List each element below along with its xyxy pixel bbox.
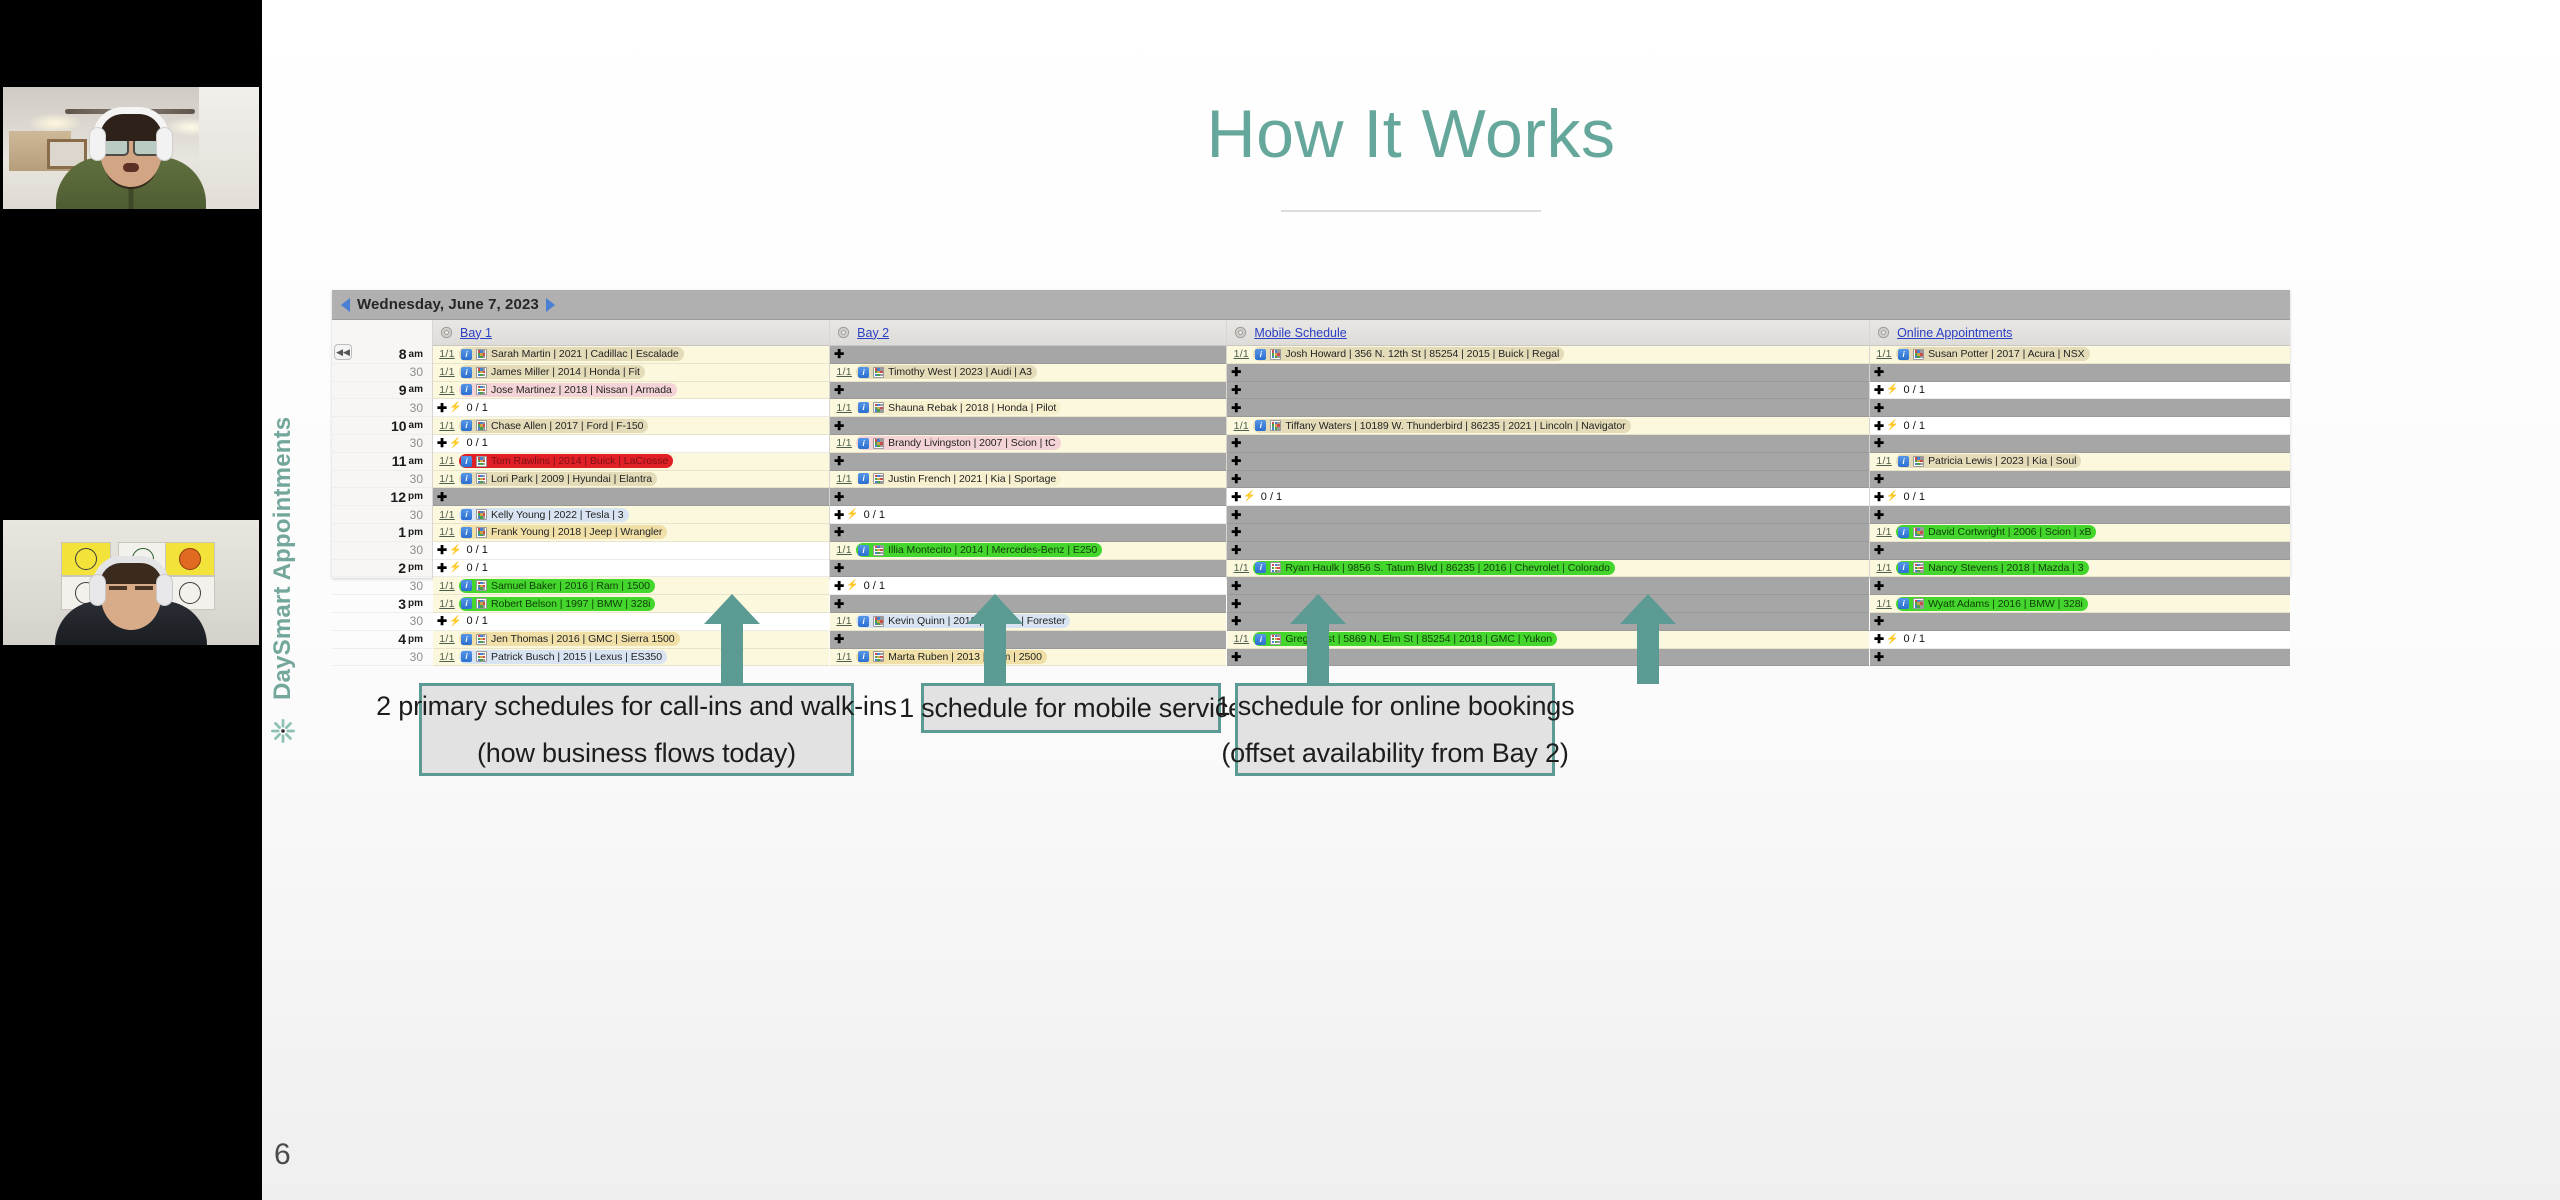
appointment-block[interactable]: iJames Miller | 2014 | Honda | Fit [459, 365, 645, 379]
schedule-slot[interactable]: ✚ [1227, 542, 1869, 560]
add-appointment-icon[interactable]: ✚ [1229, 365, 1243, 379]
grid-icon[interactable] [476, 527, 487, 538]
slot-capacity-link[interactable]: 1/1 [1229, 420, 1253, 432]
info-icon[interactable]: i [461, 598, 472, 609]
gear-icon[interactable] [1234, 326, 1247, 339]
slot-capacity-link[interactable]: 1/1 [832, 437, 856, 449]
appointment-block[interactable]: iRobert Belson | 1997 | BMW | 328i [459, 597, 655, 611]
video-conference-rail [0, 0, 262, 1200]
quick-book-icon[interactable]: ⚡ [846, 509, 858, 520]
info-icon[interactable]: i [461, 456, 472, 467]
schedule-slot[interactable]: 1/1iMarta Ruben | 2013 | Ram | 2500 [830, 649, 1226, 667]
scheduler-screenshot: Wednesday, June 7, 2023 ◀◀ 8am309am3010a… [332, 290, 2290, 578]
schedule-slot[interactable]: 1/1iSamuel Baker | 2016 | Ram | 1500 [433, 577, 829, 595]
grid-icon[interactable] [1913, 598, 1924, 609]
schedule-slot[interactable]: 1/1iKevin Quinn | 2018 | Subaru | Forest… [830, 613, 1226, 631]
info-icon[interactable]: i [858, 616, 869, 627]
schedule-slot[interactable]: ✚⚡0 / 1 [1227, 488, 1869, 506]
slot-capacity-link[interactable]: 1/1 [832, 473, 856, 485]
schedule-slot[interactable]: ✚ [1227, 364, 1869, 382]
add-appointment-icon[interactable]: ✚ [1872, 436, 1886, 450]
schedule-slot[interactable]: 1/1iDavid Cortwright | 2006 | Scion | xB [1870, 524, 2290, 542]
grid-icon[interactable] [476, 384, 487, 395]
info-icon[interactable]: i [1898, 456, 1909, 467]
time-label: 9am [332, 382, 432, 400]
grid-icon[interactable] [1270, 349, 1281, 360]
schedule-slot[interactable]: 1/1iJustin French | 2021 | Kia | Sportag… [830, 471, 1226, 489]
page-title: How It Works [262, 95, 2560, 173]
schedule-slot[interactable]: 1/1iIllia Montecito | 2014 | Mercedes-Be… [830, 542, 1226, 560]
info-icon[interactable]: i [858, 473, 869, 484]
add-appointment-icon[interactable]: ✚ [1229, 597, 1243, 611]
quick-book-icon[interactable]: ⚡ [449, 402, 461, 413]
schedule-column-bay-2: Bay 2✚1/1iTimothy West | 2023 | Audi | A… [829, 320, 1226, 578]
info-icon[interactable]: i [858, 545, 869, 556]
info-icon[interactable]: i [461, 367, 472, 378]
add-appointment-icon[interactable]: ✚ [1229, 454, 1243, 468]
info-icon[interactable]: i [1255, 349, 1266, 360]
appointment-block[interactable]: iKelly Young | 2022 | Tesla | 3 [459, 508, 629, 522]
column-title-link[interactable]: Bay 2 [857, 326, 889, 340]
slot-capacity-link[interactable]: 1/1 [832, 402, 856, 414]
appointment-block[interactable]: iPatrick Busch | 2015 | Lexus | ES350 [459, 650, 667, 664]
wall-right [199, 87, 259, 209]
appointment-label: Frank Young | 2018 | Jeep | Wrangler [491, 526, 662, 538]
schedule-slot[interactable]: ✚⚡0 / 1 [433, 613, 829, 631]
appointment-block[interactable]: iJose Martinez | 2018 | Nissan | Armada [459, 383, 677, 397]
grid-icon[interactable] [1270, 634, 1281, 645]
brand-name: DaySmart Appointments [269, 417, 297, 700]
schedule-slot[interactable]: ✚ [1870, 613, 2290, 631]
add-appointment-icon[interactable]: ✚ [1229, 525, 1243, 539]
quick-book-icon[interactable]: ⚡ [1886, 384, 1898, 395]
add-appointment-icon[interactable]: ✚ [435, 490, 449, 504]
schedule-slot[interactable]: 1/1iChase Allen | 2017 | Ford | F-150 [433, 417, 829, 435]
info-icon[interactable]: i [1898, 349, 1909, 360]
schedule-slot[interactable]: ✚ [830, 453, 1226, 471]
column-header-bay-1: Bay 1 [433, 320, 829, 346]
time-label: 10am [332, 417, 432, 435]
participant-2-video [3, 520, 259, 645]
add-appointment-icon[interactable]: ✚ [1229, 401, 1243, 415]
appointment-label: Josh Howard | 356 N. 12th St | 85254 | 2… [1285, 348, 1559, 360]
video-tile-participant-1[interactable] [3, 87, 259, 209]
appointment-block[interactable]: iLori Park | 2009 | Hyundai | Elantra [459, 472, 657, 486]
appointment-block[interactable]: iJen Thomas | 2016 | GMC | Sierra 1500 [459, 632, 680, 646]
info-icon[interactable]: i [858, 402, 869, 413]
appointment-label: Jose Martinez | 2018 | Nissan | Armada [491, 384, 672, 396]
gear-icon[interactable] [1877, 326, 1890, 339]
info-icon[interactable]: i [1255, 634, 1266, 645]
schedule-slot[interactable]: ✚ [1227, 382, 1869, 400]
add-appointment-icon[interactable]: ✚ [832, 490, 846, 504]
slot-capacity-link[interactable]: 1/1 [435, 580, 459, 592]
add-appointment-icon[interactable]: ✚ [1229, 472, 1243, 486]
schedule-slot[interactable]: ✚⚡0 / 1 [433, 542, 829, 560]
info-icon[interactable]: i [858, 651, 869, 662]
gear-icon[interactable] [837, 326, 850, 339]
add-appointment-icon[interactable]: ✚ [1872, 401, 1886, 415]
grid-icon[interactable] [476, 420, 487, 431]
appointment-block[interactable]: iTiffany Waters | 10189 W. Thunderbird |… [1253, 419, 1630, 433]
schedule-slot[interactable]: 1/1iWyatt Adams | 2016 | BMW | 328i [1870, 595, 2290, 613]
schedule-slot[interactable]: ✚ [1227, 577, 1869, 595]
schedule-slot[interactable]: ✚⚡0 / 1 [1870, 382, 2290, 400]
slot-capacity-link[interactable]: 1/1 [832, 651, 856, 663]
add-appointment-icon[interactable]: ✚ [1229, 383, 1243, 397]
grid-icon[interactable] [873, 651, 884, 662]
gear-icon[interactable] [440, 326, 453, 339]
appointment-label: Susan Potter | 2017 | Acura | NSX [1928, 348, 2085, 360]
appointment-block[interactable]: iJosh Howard | 356 N. 12th St | 85254 | … [1253, 347, 1564, 361]
info-icon[interactable]: i [858, 438, 869, 449]
add-appointment-icon[interactable]: ✚ [435, 436, 449, 450]
schedule-slot[interactable]: 1/1iJosh Howard | 356 N. 12th St | 85254… [1227, 346, 1869, 364]
add-appointment-icon[interactable]: ✚ [1872, 365, 1886, 379]
slot-capacity-link[interactable]: 1/1 [435, 473, 459, 485]
appointment-block[interactable]: iRyan Haulk | 9856 S. Tatum Blvd | 86235… [1253, 561, 1615, 575]
schedule-slot[interactable]: ✚⚡0 / 1 [1870, 488, 2290, 506]
arrow-head [967, 594, 1023, 624]
slot-capacity-link[interactable]: 1/1 [1229, 348, 1253, 360]
appointment-label: Chase Allen | 2017 | Ford | F-150 [491, 420, 643, 432]
slot-capacity-link[interactable]: 1/1 [832, 366, 856, 378]
schedule-slot[interactable]: ✚ [830, 595, 1226, 613]
info-icon[interactable]: i [461, 509, 472, 520]
add-appointment-icon[interactable]: ✚ [1229, 508, 1243, 522]
info-icon[interactable]: i [1255, 562, 1266, 573]
schedule-slot[interactable]: 1/1iSarah Martin | 2021 | Cadillac | Esc… [433, 346, 829, 364]
appointment-block[interactable]: iKevin Quinn | 2018 | Subaru | Forester [856, 614, 1070, 628]
info-icon[interactable]: i [461, 473, 472, 484]
schedule-slot[interactable]: ✚ [1870, 542, 2290, 560]
add-appointment-icon[interactable]: ✚ [1872, 632, 1886, 646]
slide-number: 6 [274, 1138, 291, 1172]
add-appointment-icon[interactable]: ✚ [832, 561, 846, 575]
slot-capacity-link[interactable]: 1/1 [435, 384, 459, 396]
schedule-slot[interactable]: ✚ [830, 560, 1226, 578]
previous-day-button[interactable] [341, 298, 350, 312]
grid-icon[interactable] [1913, 562, 1924, 573]
add-appointment-icon[interactable]: ✚ [1229, 543, 1243, 557]
slot-capacity-link[interactable]: 1/1 [1872, 598, 1896, 610]
schedule-slot[interactable]: 1/1iNancy Stevens | 2018 | Mazda | 3 [1870, 560, 2290, 578]
quick-book-icon[interactable]: ⚡ [1886, 491, 1898, 502]
column-header-online-appointments: Online Appointments [1870, 320, 2290, 346]
schedule-slot[interactable]: ✚⚡0 / 1 [830, 506, 1226, 524]
quick-book-icon[interactable]: ⚡ [449, 616, 461, 627]
appointment-block[interactable]: iBrandy Livingston | 2007 | Scion | tC [856, 436, 1060, 450]
schedule-slot[interactable]: 1/1iPatricia Lewis | 2023 | Kia | Soul [1870, 453, 2290, 471]
column-title-link[interactable]: Bay 1 [460, 326, 492, 340]
add-appointment-icon[interactable]: ✚ [832, 632, 846, 646]
add-appointment-icon[interactable]: ✚ [435, 561, 449, 575]
schedule-slot[interactable]: ✚ [1870, 364, 2290, 382]
slot-capacity-link[interactable]: 1/1 [1872, 348, 1896, 360]
golf-pennant [165, 542, 215, 576]
schedule-slot[interactable]: 1/1iPatrick Busch | 2015 | Lexus | ES350 [433, 649, 829, 667]
schedule-slot[interactable]: ✚ [1870, 435, 2290, 453]
schedule-slot[interactable]: ✚⚡0 / 1 [1870, 631, 2290, 649]
schedule-slot[interactable]: ✚⚡0 / 1 [433, 435, 829, 453]
schedule-slot[interactable]: ✚ [1227, 471, 1869, 489]
add-appointment-icon[interactable]: ✚ [435, 543, 449, 557]
schedule-slot[interactable]: ✚ [1870, 577, 2290, 595]
slot-capacity-link[interactable]: 1/1 [1872, 526, 1896, 538]
slot-capacity-link[interactable]: 1/1 [1872, 562, 1896, 574]
schedule-slot[interactable]: ✚⚡0 / 1 [433, 560, 829, 578]
appointment-label: David Cortwright | 2006 | Scion | xB [1928, 526, 2091, 538]
schedule-slot[interactable]: ✚ [830, 524, 1226, 542]
schedule-slot[interactable]: ✚ [830, 417, 1226, 435]
callout-online-bookings: 1 schedule for online bookings (offset a… [1235, 683, 1555, 776]
appointment-block[interactable]: iWyatt Adams | 2016 | BMW | 328i [1896, 597, 2088, 611]
slot-capacity-link[interactable]: 1/1 [435, 651, 459, 663]
add-appointment-icon[interactable]: ✚ [1229, 490, 1243, 504]
add-appointment-icon[interactable]: ✚ [1872, 472, 1886, 486]
schedule-slot[interactable]: ✚ [830, 488, 1226, 506]
add-appointment-icon[interactable]: ✚ [1872, 508, 1886, 522]
slot-capacity-link[interactable]: 1/1 [832, 615, 856, 627]
slot-capacity-link[interactable]: 1/1 [1229, 633, 1253, 645]
add-appointment-icon[interactable]: ✚ [1872, 383, 1886, 397]
grid-icon[interactable] [873, 616, 884, 627]
quick-book-icon[interactable]: ⚡ [449, 545, 461, 556]
grid-icon[interactable] [873, 367, 884, 378]
schedule-slot[interactable]: ✚ [1227, 453, 1869, 471]
time-label: 30 [332, 613, 432, 631]
quick-book-icon[interactable]: ⚡ [1886, 420, 1898, 431]
schedule-slot[interactable]: ✚⚡0 / 1 [830, 577, 1226, 595]
info-icon[interactable]: i [858, 367, 869, 378]
add-appointment-icon[interactable]: ✚ [1872, 614, 1886, 628]
grid-icon[interactable] [873, 473, 884, 484]
grid-icon[interactable] [1913, 456, 1924, 467]
schedule-slot[interactable]: 1/1iJose Martinez | 2018 | Nissan | Arma… [433, 382, 829, 400]
column-title-link[interactable]: Online Appointments [1897, 326, 2012, 340]
slot-capacity-link[interactable]: 1/1 [435, 348, 459, 360]
slot-capacity-link[interactable]: 1/1 [435, 455, 459, 467]
callout-line: (how business flows today) [477, 738, 796, 769]
schedule-slot[interactable]: 1/1iRyan Haulk | 9856 S. Tatum Blvd | 86… [1227, 560, 1869, 578]
slot-capacity-link[interactable]: 1/1 [435, 366, 459, 378]
add-appointment-icon[interactable]: ✚ [1229, 614, 1243, 628]
info-icon[interactable]: i [461, 420, 472, 431]
video-tile-participant-2[interactable] [3, 520, 259, 645]
grid-icon[interactable] [476, 634, 487, 645]
title-divider [1281, 210, 1541, 212]
add-appointment-icon[interactable]: ✚ [1872, 579, 1886, 593]
schedule-slot[interactable]: 1/1iTom Rawlins | 2014 | Buick | LaCross… [433, 453, 829, 471]
schedule-slot[interactable]: ✚ [1227, 399, 1869, 417]
add-appointment-icon[interactable]: ✚ [832, 597, 846, 611]
column-header-bay-2: Bay 2 [830, 320, 1226, 346]
schedule-slot[interactable]: ✚ [1227, 506, 1869, 524]
info-icon[interactable]: i [1898, 527, 1909, 538]
schedule-column-bay-1: Bay 11/1iSarah Martin | 2021 | Cadillac … [432, 320, 829, 578]
schedule-slot[interactable]: ✚ [830, 346, 1226, 364]
appointment-block[interactable]: iSamuel Baker | 2016 | Ram | 1500 [459, 579, 655, 593]
schedule-slot[interactable]: 1/1iRobert Belson | 1997 | BMW | 328i [433, 595, 829, 613]
schedule-slot[interactable]: 1/1iShauna Rebak | 2018 | Honda | Pilot [830, 399, 1226, 417]
schedule-slot[interactable]: ✚ [830, 631, 1226, 649]
time-label: 30 [332, 542, 432, 560]
appointment-block[interactable]: iFrank Young | 2018 | Jeep | Wrangler [459, 525, 667, 539]
appointment-block[interactable]: iDavid Cortwright | 2006 | Scion | xB [1896, 525, 2096, 539]
info-icon[interactable]: i [461, 349, 472, 360]
grid-icon[interactable] [873, 545, 884, 556]
add-appointment-icon[interactable]: ✚ [435, 614, 449, 628]
grid-icon[interactable] [476, 456, 487, 467]
grid-icon[interactable] [1913, 527, 1924, 538]
callout-line: 1 schedule for online bookings [1216, 691, 1575, 722]
schedule-slot[interactable]: ✚ [1227, 435, 1869, 453]
slot-capacity-text: 0 / 1 [1904, 384, 1925, 396]
appointment-block[interactable]: iSarah Martin | 2021 | Cadillac | Escala… [459, 347, 684, 361]
grid-icon[interactable] [873, 402, 884, 413]
schedule-slot[interactable]: ✚⚡0 / 1 [433, 399, 829, 417]
headphone-right-cup [156, 127, 173, 161]
add-appointment-icon[interactable]: ✚ [435, 401, 449, 415]
schedule-slot[interactable]: 1/1iTimothy West | 2023 | Audi | A3 [830, 364, 1226, 382]
slot-capacity-link[interactable]: 1/1 [435, 598, 459, 610]
time-label: 2pm [332, 560, 432, 578]
appointment-label: Sarah Martin | 2021 | Cadillac | Escalad… [491, 348, 679, 360]
grid-icon[interactable] [476, 509, 487, 520]
add-appointment-icon[interactable]: ✚ [1229, 650, 1243, 664]
appointment-block[interactable]: iShauna Rebak | 2018 | Honda | Pilot [856, 401, 1061, 415]
add-appointment-icon[interactable]: ✚ [832, 454, 846, 468]
info-icon[interactable]: i [1898, 562, 1909, 573]
grid-icon[interactable] [476, 473, 487, 484]
add-appointment-icon[interactable]: ✚ [832, 508, 846, 522]
slot-capacity-link[interactable]: 1/1 [1872, 455, 1896, 467]
slot-capacity-text: 0 / 1 [466, 402, 487, 414]
add-appointment-icon[interactable]: ✚ [1872, 650, 1886, 664]
slot-capacity-text: 0 / 1 [1904, 633, 1925, 645]
appointment-label: Shauna Rebak | 2018 | Honda | Pilot [888, 402, 1056, 414]
slot-capacity-link[interactable]: 1/1 [1229, 562, 1253, 574]
info-icon[interactable]: i [461, 527, 472, 538]
grid-icon[interactable] [1270, 420, 1281, 431]
quick-book-icon[interactable]: ⚡ [1886, 634, 1898, 645]
grid-icon[interactable] [476, 349, 487, 360]
appointment-block[interactable]: iIllia Montecito | 2014 | Mercedes-Benz … [856, 543, 1102, 557]
time-label: 30 [332, 435, 432, 453]
add-appointment-icon[interactable]: ✚ [832, 383, 846, 397]
appointment-block[interactable]: iSusan Potter | 2017 | Acura | NSX [1896, 347, 2090, 361]
add-appointment-icon[interactable]: ✚ [832, 579, 846, 593]
scheduler-date: Wednesday, June 7, 2023 [357, 296, 539, 313]
quick-book-icon[interactable]: ⚡ [449, 438, 461, 449]
quick-book-icon[interactable]: ⚡ [846, 580, 858, 591]
appointment-block[interactable]: iTom Rawlins | 2014 | Buick | LaCrosse [459, 454, 673, 468]
appointment-block[interactable]: iTimothy West | 2023 | Audi | A3 [856, 365, 1037, 379]
grid-icon[interactable] [1913, 349, 1924, 360]
appointment-label: Tom Rawlins | 2014 | Buick | LaCrosse [491, 455, 668, 467]
next-day-button[interactable] [546, 298, 555, 312]
schedule-slot[interactable]: 1/1iJames Miller | 2014 | Honda | Fit [433, 364, 829, 382]
schedule-slot[interactable]: 1/1iTiffany Waters | 10189 W. Thunderbir… [1227, 417, 1869, 435]
add-appointment-icon[interactable]: ✚ [832, 347, 846, 361]
slot-capacity-link[interactable]: 1/1 [435, 420, 459, 432]
quick-book-icon[interactable]: ⚡ [1243, 491, 1255, 502]
info-icon[interactable]: i [461, 634, 472, 645]
appointment-label: Kelly Young | 2022 | Tesla | 3 [491, 509, 624, 521]
info-icon[interactable]: i [461, 580, 472, 591]
time-label: 30 [332, 364, 432, 382]
add-appointment-icon[interactable]: ✚ [1229, 579, 1243, 593]
appointment-block[interactable]: iChase Allen | 2017 | Ford | F-150 [459, 419, 648, 433]
info-icon[interactable]: i [461, 651, 472, 662]
grid-icon[interactable] [476, 651, 487, 662]
info-icon[interactable]: i [1255, 420, 1266, 431]
grid-icon[interactable] [476, 580, 487, 591]
add-appointment-icon[interactable]: ✚ [1872, 419, 1886, 433]
schedule-slot[interactable]: ✚ [1870, 649, 2290, 667]
column-title-link[interactable]: Mobile Schedule [1254, 326, 1346, 340]
grid-icon[interactable] [1270, 562, 1281, 573]
collapse-panel-button[interactable]: ◀◀ [334, 344, 352, 360]
schedule-slot[interactable]: ✚ [1227, 524, 1869, 542]
info-icon[interactable]: i [1898, 598, 1909, 609]
schedule-slot[interactable]: 1/1iFrank Young | 2018 | Jeep | Wrangler [433, 524, 829, 542]
add-appointment-icon[interactable]: ✚ [832, 419, 846, 433]
schedule-slot[interactable]: 1/1iJen Thomas | 2016 | GMC | Sierra 150… [433, 631, 829, 649]
appointment-label: Brandy Livingston | 2007 | Scion | tC [888, 437, 1055, 449]
quick-book-icon[interactable]: ⚡ [449, 562, 461, 573]
add-appointment-icon[interactable]: ✚ [1872, 543, 1886, 557]
grid-icon[interactable] [476, 598, 487, 609]
time-label: 12pm [332, 488, 432, 506]
grid-icon[interactable] [873, 438, 884, 449]
schedule-slot[interactable]: ✚ [1870, 399, 2290, 417]
time-label: 11am [332, 453, 432, 471]
schedule-slot[interactable]: ✚ [1870, 471, 2290, 489]
slot-capacity-link[interactable]: 1/1 [832, 544, 856, 556]
schedule-slot[interactable]: 1/1iKelly Young | 2022 | Tesla | 3 [433, 506, 829, 524]
add-appointment-icon[interactable]: ✚ [1229, 436, 1243, 450]
appointment-block[interactable]: iNancy Stevens | 2018 | Mazda | 3 [1896, 561, 2088, 575]
slot-capacity-text: 0 / 1 [466, 437, 487, 449]
time-label: 30 [332, 649, 432, 667]
info-icon[interactable]: i [461, 384, 472, 395]
participant-1-mouth [123, 163, 139, 172]
slot-capacity-link[interactable]: 1/1 [435, 509, 459, 521]
grid-icon[interactable] [476, 367, 487, 378]
participant-1-video [3, 87, 259, 209]
schedule-slot[interactable]: ✚⚡0 / 1 [1870, 417, 2290, 435]
add-appointment-icon[interactable]: ✚ [832, 525, 846, 539]
slot-capacity-link[interactable]: 1/1 [435, 526, 459, 538]
time-label: 30 [332, 399, 432, 417]
schedule-slot[interactable]: 1/1iLori Park | 2009 | Hyundai | Elantra [433, 471, 829, 489]
scheduler-grid: ◀◀ 8am309am3010am3011am3012pm301pm302pm3… [332, 320, 2290, 578]
slot-capacity-text: 0 / 1 [1261, 491, 1282, 503]
schedule-slot[interactable]: ✚ [830, 382, 1226, 400]
add-appointment-icon[interactable]: ✚ [1872, 490, 1886, 504]
appointment-block[interactable]: iPatricia Lewis | 2023 | Kia | Soul [1896, 454, 2081, 468]
pennant-crest [179, 582, 201, 604]
appointment-block[interactable]: iJustin French | 2021 | Kia | Sportage [856, 472, 1061, 486]
headphone-right-cup [156, 574, 173, 606]
schedule-slot[interactable]: 1/1iSusan Potter | 2017 | Acura | NSX [1870, 346, 2290, 364]
slot-capacity-link[interactable]: 1/1 [435, 633, 459, 645]
schedule-slot[interactable]: 1/1iBrandy Livingston | 2007 | Scion | t… [830, 435, 1226, 453]
appointment-label: Wyatt Adams | 2016 | BMW | 328i [1928, 598, 2083, 610]
schedule-slot[interactable]: ✚ [433, 488, 829, 506]
schedule-slot[interactable]: ✚ [1870, 506, 2290, 524]
